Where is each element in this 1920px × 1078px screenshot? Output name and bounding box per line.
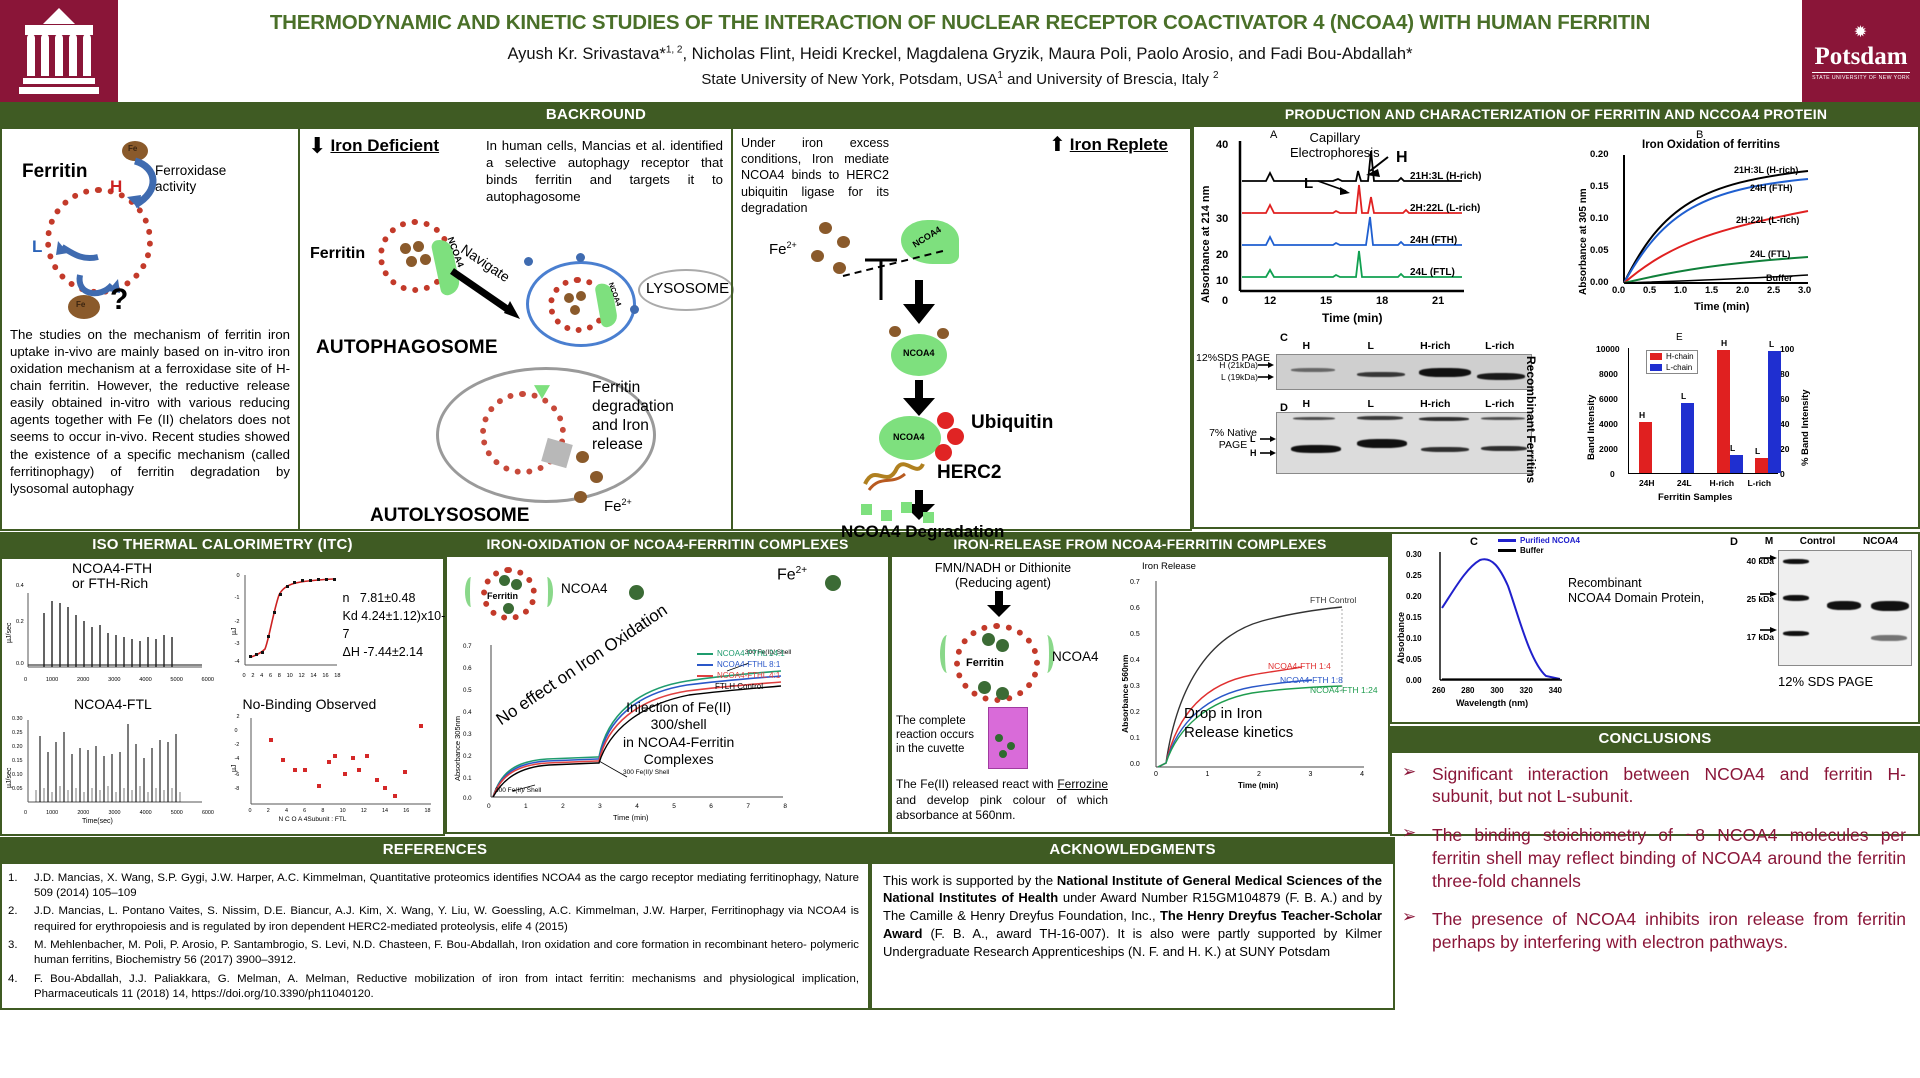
release-legend-label-0: FTH Control	[1310, 595, 1356, 605]
panel-b-ytick: 0.05	[1590, 245, 1609, 256]
fe-bottom-label: Fe	[76, 300, 85, 309]
background-panel-body: Ferritin Fe H Ferroxidase activity L	[0, 129, 1192, 531]
ferrozine-note: The Fe(II) released react with Ferrozine…	[896, 777, 1108, 822]
barchart-ytick-left: 0	[1610, 469, 1615, 479]
reference-text: M. Mehlenbacher, M. Poli, P. Arosio, P. …	[34, 938, 859, 969]
poster-root: THERMODYNAMIC AND KINETIC STUDIES OF THE…	[0, 0, 1920, 1078]
ncoa4-c-ytick: 0.20	[1406, 592, 1422, 601]
ox-xtick: 3	[598, 803, 602, 810]
autophagy-diagram: Ferritin NCOA4 Nav	[308, 209, 723, 549]
panel-c-lane-label: L-rich	[1468, 340, 1533, 352]
itc-bottom-title: NCOA4-FTL	[74, 696, 152, 712]
itc-tl-xtick: 3000	[108, 677, 120, 683]
membrane-node-icon	[630, 305, 639, 314]
barchart-ytick-right: 100	[1780, 344, 1794, 354]
ox-xtick: 0	[487, 803, 491, 810]
itc-br-ytick: 0	[235, 728, 238, 734]
barchart-ytick-right: 80	[1780, 369, 1789, 379]
ncoa4-uv-plot	[1436, 552, 1564, 686]
panel-a-ylabel: Absorbance at 214 nm	[1200, 186, 1212, 303]
ferritin-label-2: Ferritin	[310, 245, 365, 263]
panel-b-ytick: 0.20	[1590, 149, 1609, 160]
itc-kd-label: Kd	[343, 609, 358, 623]
affiliation-1: State University of New York, Potsdam, U…	[701, 71, 997, 88]
itc-tl-xtick: 5000	[170, 677, 182, 683]
iron-release-schematic: FMN/NADH or Dithionite (Reducing agent) …	[892, 557, 1114, 832]
itc-bl-ytick: 0.20	[12, 744, 23, 750]
panel-a-peak-l-label: L	[1304, 175, 1313, 192]
itc-bl-xtick: 4000	[140, 810, 152, 816]
itc-fit-parameters: n 7.81±0.48 Kd 4.24±1.12)x10-7 ΔH -7.44±…	[343, 589, 446, 662]
production-section: PRODUCTION AND CHARACTERIZATION OF FERRI…	[1192, 102, 1920, 532]
itc-tl-xtick: 2000	[77, 677, 89, 683]
release-xlabel: Time (min)	[1238, 781, 1278, 790]
itc-bl-xlabel: Time(sec)	[82, 818, 113, 825]
panel-a-trace-label: 24H (FTH)	[1410, 235, 1457, 246]
ncoa4-legend-item: Buffer	[1498, 546, 1580, 555]
itc-n-value: 7.81±0.48	[360, 591, 416, 605]
panel-b-xtick: 2.0	[1736, 285, 1749, 296]
free-fe-green-dot-2	[825, 575, 841, 591]
ncoa4-arc-icon	[465, 577, 477, 607]
iron-release-chart: Iron Release Absorbance 560nm 0.7 0.6 0.…	[1114, 557, 1388, 832]
background-col-deficient: ⬇ Iron Deficient In human cells, Mancias…	[298, 129, 731, 529]
barchart-ytick-left: 6000	[1599, 394, 1618, 404]
panel-a-xtick: 15	[1320, 295, 1332, 307]
legend-label-h-chain: H-chain	[1666, 352, 1694, 361]
degraded-fragment-icon	[923, 512, 934, 523]
suny-potsdam-dome-logo	[0, 0, 118, 102]
barchart-legend: H-chain L-chain	[1646, 350, 1698, 374]
ncoa4-arc-icon	[541, 577, 553, 607]
ferrozine-note-pre: The Fe(II) released react with	[896, 777, 1057, 791]
references-panel-body: 1.J.D. Mancias, X. Wang, S.P. Gygi, J.W.…	[0, 864, 870, 1010]
ncoa4-panel-d: D M Control NCOA4 40 kDa 25 kDa 17 kDa	[1726, 534, 1918, 722]
ncoa4-d-gel-image	[1778, 550, 1912, 666]
row-two: ISO THERMAL CALORIMETRY (ITC) NCOA4-FTH …	[0, 532, 1920, 837]
panel-b-xtick: 1.0	[1674, 285, 1687, 296]
itc-br-ytick: -4	[235, 756, 240, 762]
barchart-xtick: H-rich	[1703, 478, 1741, 488]
itc-tr-xtick: 8	[278, 673, 281, 679]
lysosome-label: LYSOSOME	[646, 280, 729, 297]
release-ytick: 0.1	[1130, 735, 1140, 742]
ncoa4-legend-label: Purified NCOA4	[1520, 536, 1580, 545]
itc-br-ytick: 2	[237, 714, 240, 720]
ncoa4-c-ytick: 0.00	[1406, 676, 1422, 685]
bar-l-chain-lrich	[1768, 351, 1781, 473]
background-paragraph-2: In human cells, Mancias et al. identifie…	[486, 135, 723, 206]
ox-legend-swatch	[697, 675, 713, 677]
ncoa4-legend-swatch	[1498, 539, 1516, 542]
background-paragraph-3: Under iron excess conditions, Iron media…	[741, 135, 889, 217]
ox-xtick: 6	[709, 803, 713, 810]
row-three: REFERENCES 1.J.D. Mancias, X. Wang, S.P.…	[0, 837, 1920, 1010]
conclusion-item: ➢ Significant interaction between NCOA4 …	[1402, 763, 1906, 809]
ack-part-1: This work is supported by the	[883, 873, 1057, 888]
ox-ytick: 0.4	[463, 709, 472, 716]
ncoa4-label-rel: NCOA4	[1052, 649, 1099, 664]
itc-br-xtick: 12	[361, 808, 367, 814]
itc-tl-xtick: 0	[24, 677, 27, 683]
fe2-label-ox: Fe2+	[777, 565, 807, 584]
panel-b-ytick: 0.00	[1590, 277, 1609, 288]
ox-xtick: 7	[746, 803, 750, 810]
iron-release-panel-body: FMN/NADH or Dithionite (Reducing agent) …	[890, 557, 1390, 834]
conclusions-panel-body: ➢ Significant interaction between NCOA4 …	[1390, 753, 1920, 836]
ncoa4-d-lane-label: M	[1752, 536, 1786, 547]
potsdam-wordmark: Potsdam	[1814, 44, 1907, 69]
panel-b-trace-label: 24L (FTL)	[1750, 249, 1790, 259]
ncoa4-c-ytick: 0.10	[1406, 634, 1422, 643]
legend-label-l-chain: L-chain	[1666, 363, 1692, 372]
ox-legend-item: NCOA4-FTHL 4:1	[697, 671, 785, 680]
background-col-replete: Under iron excess conditions, Iron media…	[731, 129, 1190, 529]
bar-h-chain-24h	[1639, 422, 1652, 473]
panel-d-lane-label: H-rich	[1403, 398, 1468, 410]
iron-oxidation-section: IRON-OXIDATION OF NCOA4-FERRITIN COMPLEX…	[445, 532, 890, 837]
authors-rest: , Nicholas Flint, Heidi Kreckel, Magdale…	[683, 45, 1413, 63]
conclusions-section-header: CONCLUSIONS	[1390, 726, 1920, 753]
row-one: BACKROUND Ferritin Fe	[0, 102, 1920, 532]
reference-item: 2.J.D. Mancias, L. Pontano Vaites, S. Ni…	[8, 904, 859, 935]
ncoa4-c-xtick: 300	[1490, 686, 1503, 695]
itc-tr-ytick: -3	[235, 641, 240, 647]
degraded-fragment-icon	[881, 510, 892, 521]
iron-oxidation-chart: Absorbance 305nm 0.7 0.6 0.5 0.4 0.3 0.2…	[447, 635, 888, 831]
itc-tr-ytick: -4	[235, 659, 240, 665]
author-affil-marker-1: 1, 2	[666, 44, 683, 55]
references-section-header: REFERENCES	[0, 837, 870, 864]
panel-b-xtick: 2.5	[1767, 285, 1780, 296]
release-ytick: 0.4	[1130, 657, 1140, 664]
panel-a-capillary-electrophoresis: A Capillary Electrophoresis Absorbance a…	[1194, 127, 1574, 332]
row-three-spacer	[1395, 837, 1920, 1010]
ncoa4-c-xlabel: Wavelength (nm)	[1456, 698, 1528, 708]
panel-c-lane-label: H-rich	[1403, 340, 1468, 352]
up-arrow-icon: ⬆	[1049, 135, 1066, 155]
barchart-xlabel: Ferritin Samples	[1658, 492, 1732, 503]
ferritin-label: Ferritin	[22, 161, 87, 183]
production-panel-body: A Capillary Electrophoresis Absorbance a…	[1192, 127, 1920, 529]
down-arrow-icon: ⬇	[308, 135, 326, 157]
itc-top-right-isotherm: µJ 0 -1 -2 -3 -4 0 2 4 6 8 10	[223, 559, 444, 697]
ncoa4-c-legend: Purified NCOA4 Buffer	[1498, 536, 1580, 555]
ncoa4-panel-c: C Absorbance 0.30 0.25 0.20 0.15 0.10 0.…	[1392, 534, 1726, 722]
panel-a-trace-label: 24L (FTL)	[1410, 267, 1455, 278]
panel-a-xtick: 18	[1376, 295, 1388, 307]
reference-text: J.D. Mancias, X. Wang, S.P. Gygi, J.W. H…	[34, 871, 859, 902]
barchart-xtick: 24L	[1666, 478, 1704, 488]
bar-l-chain-hrich	[1730, 455, 1743, 473]
bar-annotation: L	[1755, 446, 1760, 456]
release-ytick: 0.0	[1130, 761, 1140, 768]
panel-a-ytick: 0	[1222, 295, 1228, 307]
autolysosome-label: AUTOLYSOSOME	[370, 505, 529, 527]
iron-replete-heading: Iron Replete	[1070, 135, 1168, 155]
bar-annotation: H	[1721, 338, 1727, 348]
ncoa4-degradation-label: NCOA4 Degradation	[841, 522, 1004, 542]
ncoa4-label-ox: NCOA4	[561, 581, 608, 596]
panel-a-ytick: 30	[1216, 213, 1228, 225]
ubiquitin-dot-icon	[935, 444, 952, 461]
bar-annotation-inner: L	[1730, 443, 1735, 453]
ox-ytick: 0.3	[463, 731, 472, 738]
release-xtick: 0	[1154, 771, 1158, 778]
ox-legend-item: NCOA4-FTHL 24:1	[697, 649, 785, 658]
free-fe-dot	[889, 326, 901, 337]
release-chart-title: Iron Release	[1142, 561, 1196, 572]
itc-tr-ytick: 0	[237, 573, 240, 579]
release-ytick: 0.5	[1130, 631, 1140, 638]
ncoa4-panel-c-letter: C	[1470, 536, 1478, 548]
reference-text: F. Bou-Abdallah, J.J. Paliakkara, G. Mel…	[34, 972, 859, 1003]
itc-bottom-right-scatter: No-Binding Observed	[223, 696, 444, 834]
cuvette-icon	[988, 707, 1028, 769]
ox-ytick: 0.0	[463, 795, 472, 802]
panel-b-trace-label: 24H (FTH)	[1750, 183, 1793, 193]
barchart-ytick-left: 2000	[1599, 444, 1618, 454]
itc-tr-ytick: -1	[235, 595, 240, 601]
panel-b-xtick: 1.5	[1705, 285, 1718, 296]
panel-a-ytick: 20	[1216, 249, 1228, 261]
oxidation-schematic: Ferritin NCOA4 Fe2+	[447, 557, 888, 635]
ferroxidase-activity-label: Ferroxidase activity	[155, 163, 226, 195]
ncoa4-c-ytick: 0.15	[1406, 613, 1422, 622]
panel-c-lane-label: H	[1274, 340, 1339, 352]
ubiquitin-dot-icon	[947, 428, 964, 445]
release-xtick: 4	[1360, 771, 1364, 778]
ox-ytick: 0.5	[463, 687, 472, 694]
bar-l-chain-24l	[1681, 403, 1694, 473]
poster-header: THERMODYNAMIC AND KINETIC STUDIES OF THE…	[0, 0, 1920, 102]
itc-tl-ytick: 0.2	[16, 619, 24, 625]
release-xtick: 3	[1309, 771, 1313, 778]
authors-prefix: Ayush Kr. Srivastava*	[507, 45, 665, 63]
injection-note: Injection of Fe(II) 300/shell in NCOA4-F…	[623, 699, 734, 767]
itc-br-xtick: 18	[424, 808, 430, 814]
ox-legend-label: NCOA4-FTHL 8:1	[717, 660, 780, 669]
itc-bl-xtick: 1000	[46, 810, 58, 816]
ferrozine-word: Ferrozine	[1057, 777, 1108, 791]
acknowledgments-section-header: ACKNOWLEDGMENTS	[870, 837, 1395, 864]
release-ylabel: Absorbance 560nm	[1120, 655, 1130, 733]
barchart-ytick-left: 8000	[1599, 369, 1618, 379]
itc-top-title: NCOA4-FTH or FTH-Rich	[72, 561, 152, 592]
panel-a-trace-label: 21H:3L (H-rich)	[1410, 171, 1482, 182]
barchart-ytick-right: 40	[1780, 419, 1789, 429]
itc-tr-ylabel: µJ	[231, 627, 238, 635]
fe-top-label: Fe	[128, 144, 137, 153]
itc-tr-ytick: -2	[235, 619, 240, 625]
panel-c-marker-bottom: L (19kDa)	[1196, 372, 1258, 382]
panel-a-xlabel: Time (min)	[1322, 311, 1382, 325]
herc2-pathway-diagram: Fe2+ NCOA4	[741, 216, 1182, 546]
release-ytick: 0.6	[1130, 605, 1140, 612]
reference-text: J.D. Mancias, L. Pontano Vaites, S. Niss…	[34, 904, 859, 935]
ox-legend: NCOA4-FTHL 24:1 NCOA4-FTHL 8:1 NCOA4-FTH…	[697, 649, 785, 691]
ox-ytick: 0.1	[463, 775, 472, 782]
ferritin-diagram: Ferritin Fe H Ferroxidase activity L	[10, 135, 290, 310]
ox-xtick: 4	[635, 803, 639, 810]
panel-c-marker-top: H (21kDa)	[1196, 360, 1258, 370]
ox-legend-swatch	[697, 653, 713, 655]
herc2-label: HERC2	[937, 462, 1001, 484]
itc-br-xtick: 8	[321, 808, 324, 814]
legend-item-h-chain: H-chain	[1650, 352, 1694, 361]
itc-br-xlabel: N C O A 4Subunit : FTL	[279, 816, 347, 823]
panel-c-gel-image	[1276, 354, 1532, 390]
itc-tl-ytick: 0.4	[16, 583, 24, 589]
itc-no-binding-scatter-plot	[247, 716, 433, 812]
panel-b-trace-label: 2H:22L (L-rich)	[1736, 215, 1799, 225]
itc-tr-xtick: 12	[298, 673, 304, 679]
down-arrow-thick-icon-2	[897, 378, 943, 420]
barchart-ytick-left: 4000	[1599, 419, 1618, 429]
ubiquitin-dot-icon	[937, 412, 954, 429]
l-arrow-icon	[46, 235, 106, 269]
itc-br-xtick: 10	[340, 808, 346, 814]
legend-swatch-h-chain	[1650, 353, 1662, 360]
barchart-xtick: L-rich	[1741, 478, 1779, 488]
ncoa4-c-ylabel: Absorbance	[1396, 612, 1406, 664]
itc-tr-xtick: 6	[269, 673, 272, 679]
release-legend-label-3: NCOA4-FTH 1:24	[1310, 685, 1378, 695]
down-arrow-thick-icon	[897, 278, 943, 328]
itc-bl-ytick: 0.05	[12, 786, 23, 792]
itc-br-xtick: 6	[303, 808, 306, 814]
acknowledgments-text: This work is supported by the National I…	[872, 864, 1393, 970]
ox-ytick: 0.6	[463, 665, 472, 672]
legend-swatch-l-chain	[1650, 364, 1662, 371]
itc-br-xtick: 0	[249, 808, 252, 814]
ubiquitin-label: Ubiquitin	[971, 412, 1053, 434]
panel-b-iron-oxidation: B Iron Oxidation of ferritins Absorbance…	[1574, 127, 1918, 332]
panel-c-lane-label: L	[1339, 340, 1404, 352]
ncoa4-d-lane-label: Control	[1786, 536, 1849, 547]
fe2-label-col3: Fe2+	[769, 240, 797, 258]
ncoa4-recombinant-note: Recombinant NCOA4 Domain Protein,	[1568, 576, 1704, 606]
gels-column: C 12%SDS PAGE H L H-rich L-rich H (21kDa…	[1194, 332, 1584, 527]
bullet-arrow-icon: ➢	[1402, 763, 1420, 809]
background-section-header: BACKROUND	[0, 102, 1192, 129]
panel-c-marker-arrows-icon	[1258, 360, 1276, 386]
ncoa4-label-4: NCOA4	[903, 348, 935, 358]
inhibit-bar-icon	[861, 256, 901, 316]
itc-dh-value: -7.44±2.14	[363, 645, 423, 659]
ncoa4-d-marker-arrows-icon	[1760, 554, 1780, 646]
itc-section: ISO THERMAL CALORIMETRY (ITC) NCOA4-FTH …	[0, 532, 445, 837]
panel-a-xtick: 12	[1264, 295, 1276, 307]
fe2-label-col2: Fe2+	[604, 497, 632, 515]
panel-b-title: Iron Oxidation of ferritins	[1642, 139, 1780, 151]
ncoa4-c-ytick: 0.05	[1406, 655, 1422, 664]
ncoa4-protein-panel: C Absorbance 0.30 0.25 0.20 0.15 0.10 0.…	[1390, 532, 1920, 724]
ncoa4-c-xtick: 260	[1432, 686, 1445, 695]
released-fe-dot	[574, 491, 587, 503]
release-legend-label-1: NCOA4-FTH 1:4	[1268, 661, 1331, 671]
itc-tr-xtick: 14	[310, 673, 316, 679]
free-fe-dot	[811, 250, 824, 262]
iron-oxidation-panel-body: Ferritin NCOA4 Fe2+ Absorbance 305nm 0.7	[445, 557, 890, 834]
ncoa4-legend-swatch	[1498, 549, 1516, 552]
panel-d-arrow-h-label: H	[1250, 448, 1257, 458]
affiliation-join: and University of Brescia, Italy	[1003, 71, 1213, 88]
ncoa4-arc-icon-rel	[940, 635, 954, 673]
bar-h-chain-hrich	[1717, 350, 1730, 473]
itc-bl-ytick: 0.10	[12, 772, 23, 778]
itc-tl-xtick: 6000	[202, 677, 214, 683]
panel-a-plot	[1238, 141, 1468, 303]
iron-deficient-heading: Iron Deficient	[330, 136, 439, 156]
reference-item: 4.F. Bou-Abdallah, J.J. Paliakkara, G. M…	[8, 972, 859, 1003]
acknowledgments-panel-body: This work is supported by the National I…	[870, 864, 1395, 1010]
ack-part-3: (F. B. A., award TH-16-007). It is also …	[883, 926, 1382, 959]
background-paragraph-1: The studies on the mechanism of ferritin…	[10, 326, 290, 498]
reference-list: 1.J.D. Mancias, X. Wang, S.P. Gygi, J.W.…	[2, 864, 868, 1013]
itc-ftl-thermogram-plot	[26, 718, 204, 810]
panel-a-ytick: 40	[1216, 139, 1228, 151]
itc-tr-xtick: 4	[260, 673, 263, 679]
l-subunit-label: L	[32, 237, 42, 257]
ferritin-label-rel: Ferritin	[966, 657, 1004, 669]
production-section-header: PRODUCTION AND CHARACTERIZATION OF FERRI…	[1192, 102, 1920, 127]
autophagosome-label: AUTOPHAGOSOME	[316, 337, 498, 359]
itc-br-xtick: 14	[382, 808, 388, 814]
ox-annotation-2: 300 Fe(II)/ Shell	[623, 769, 669, 776]
free-fe-dot	[819, 222, 832, 234]
panel-a-letter: A	[1270, 129, 1277, 141]
bar-annotation-inner-2: L	[1769, 339, 1774, 349]
affiliation-line: State University of New York, Potsdam, U…	[128, 70, 1792, 88]
ncoa4-protein-and-conclusions: C Absorbance 0.30 0.25 0.20 0.15 0.10 0.…	[1390, 532, 1920, 837]
itc-tr-xtick: 10	[287, 673, 293, 679]
panel-b-trace-label: 21H:3L (H-rich)	[1734, 165, 1798, 175]
reference-number: 3.	[8, 938, 24, 969]
itc-panel-body: NCOA4-FTH or FTH-Rich µJ/sec 0	[0, 559, 445, 836]
ncoa4-c-xtick: 340	[1549, 686, 1562, 695]
itc-bl-xtick: 6000	[202, 810, 214, 816]
itc-tl-ylabel: µJ/sec	[6, 622, 13, 642]
barchart-xtick: 24H	[1628, 478, 1666, 488]
acknowledgments-section: ACKNOWLEDGMENTS This work is supported b…	[870, 837, 1395, 1010]
ncoa4-c-ytick: 0.30	[1406, 550, 1422, 559]
ferrozine-note-post: and develop pink colour of which absorba…	[896, 793, 1108, 822]
bar-annotation: H	[1639, 410, 1645, 420]
seal-icon: ✹	[1854, 22, 1868, 42]
itc-n-label: n	[343, 591, 350, 605]
bar-h-chain-lrich	[1755, 458, 1768, 473]
reference-number: 4.	[8, 972, 24, 1003]
ferritin-label-ox: Ferritin	[487, 591, 518, 601]
panel-b-trace-label: Buffer	[1766, 273, 1793, 283]
panel-d-lane-label: L-rich	[1468, 398, 1533, 410]
itc-tl-xtick: 4000	[139, 677, 151, 683]
panel-a-trace-label: 2H:22L (L-rich)	[1410, 203, 1480, 214]
panel-a-ytick: 10	[1216, 275, 1228, 287]
itc-tl-xtick: 1000	[46, 677, 58, 683]
itc-no-binding-label: No-Binding Observed	[243, 696, 377, 712]
conclusion-text: Significant interaction between NCOA4 an…	[1432, 763, 1906, 809]
release-xtick: 1	[1206, 771, 1210, 778]
itc-tr-xtick: 18	[334, 673, 340, 679]
ncoa4-legend-item: Purified NCOA4	[1498, 536, 1580, 545]
potsdam-wordmark-logo: ✹ Potsdam STATE UNIVERSITY OF NEW YORK	[1802, 0, 1920, 102]
ox-legend-label: FTLH Control	[715, 682, 763, 691]
barchart-ytick-right: 20	[1780, 444, 1789, 454]
ncoa4-c-ytick: 0.25	[1406, 571, 1422, 580]
degraded-fragment-icon	[861, 504, 872, 515]
